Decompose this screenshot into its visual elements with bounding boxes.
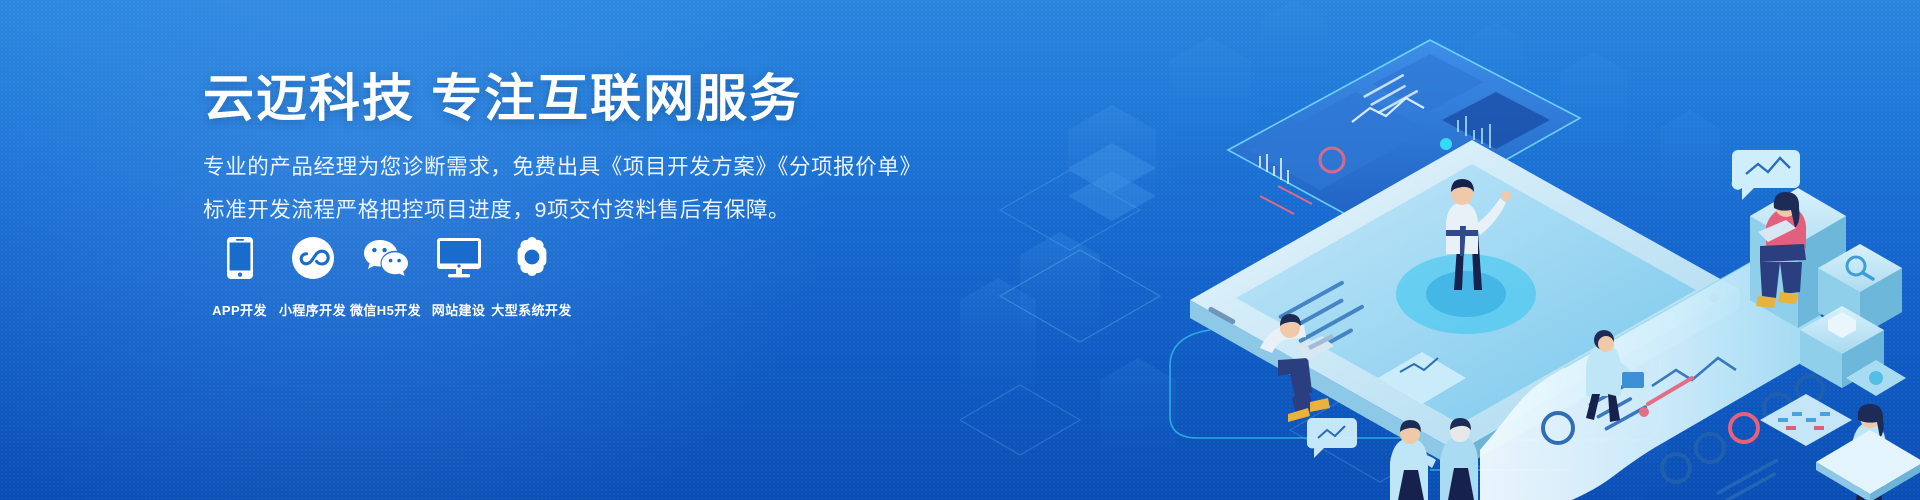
- service-label: 网站建设: [432, 300, 486, 319]
- page-title: 云迈科技 专注互联网服务: [203, 68, 903, 129]
- wechat-icon: [363, 232, 409, 284]
- service-label: APP开发: [212, 300, 267, 319]
- hero-banner: 云迈科技 专注互联网服务 专业的产品经理为您诊断需求，免费出具《项目开发方案》《…: [0, 0, 1920, 500]
- description-line-1: 专业的产品经理为您诊断需求，免费出具《项目开发方案》《分项报价单》: [203, 151, 903, 184]
- service-label: 大型系统开发: [491, 300, 571, 319]
- description-line-2: 标准开发流程严格把控项目进度，9项交付资料售后有保障。: [203, 194, 903, 227]
- service-item-large-system[interactable]: 大型系统开发: [495, 232, 568, 319]
- banner-description: 专业的产品经理为您诊断需求，免费出具《项目开发方案》《分项报价单》 标准开发流程…: [203, 151, 903, 227]
- monitor-icon: [437, 232, 481, 284]
- service-label: 微信H5开发: [350, 300, 421, 319]
- banner-copy: 云迈科技 专注互联网服务 专业的产品经理为您诊断需求，免费出具《项目开发方案》《…: [203, 68, 903, 236]
- isometric-data-platform-illustration: [960, 0, 1920, 500]
- service-label: 小程序开发: [279, 300, 346, 319]
- service-list: APP开发 小程序开发: [203, 232, 568, 319]
- gear-icon: [511, 232, 553, 284]
- service-item-app[interactable]: APP开发: [203, 232, 276, 319]
- mini-program-icon: [292, 232, 334, 284]
- mobile-phone-icon: [227, 232, 253, 284]
- service-item-website[interactable]: 网站建设: [422, 232, 495, 319]
- service-item-mini-program[interactable]: 小程序开发: [276, 232, 349, 319]
- service-item-wechat-h5[interactable]: 微信H5开发: [349, 232, 422, 319]
